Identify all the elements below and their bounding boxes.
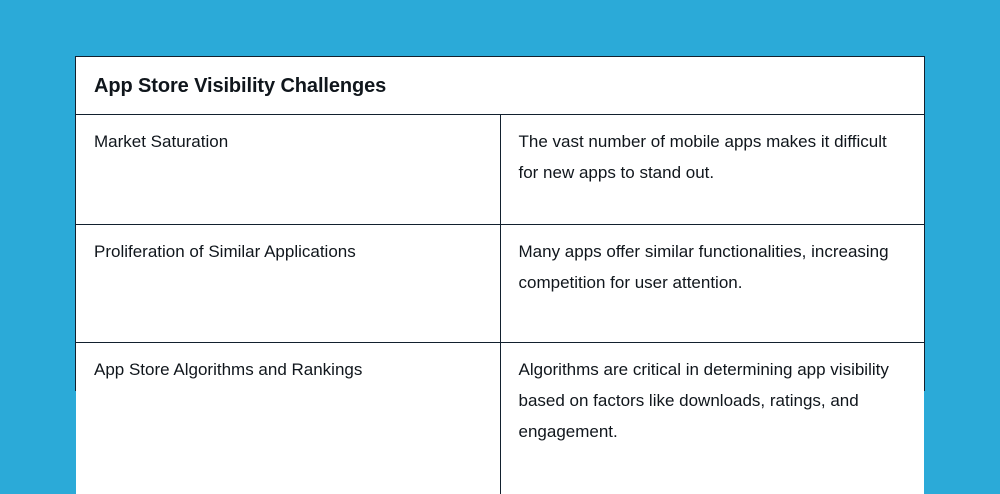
visibility-challenges-table: App Store Visibility Challenges Market S… [76, 57, 924, 494]
visibility-challenges-table-container: App Store Visibility Challenges Market S… [75, 56, 925, 391]
challenge-term: Market Saturation [76, 115, 500, 225]
table-header-row: App Store Visibility Challenges [76, 57, 924, 115]
challenge-description: Algorithms are critical in determining a… [500, 343, 924, 494]
challenge-term: App Store Algorithms and Rankings [76, 343, 500, 494]
slide-canvas: App Store Visibility Challenges Market S… [0, 0, 1000, 449]
table-row: Proliferation of Similar Applications Ma… [76, 225, 924, 343]
challenge-description: The vast number of mobile apps makes it … [500, 115, 924, 225]
table-row: Market Saturation The vast number of mob… [76, 115, 924, 225]
challenge-description: Many apps offer similar functionalities,… [500, 225, 924, 343]
table-title: App Store Visibility Challenges [76, 57, 924, 115]
table-row: App Store Algorithms and Rankings Algori… [76, 343, 924, 494]
challenge-term: Proliferation of Similar Applications [76, 225, 500, 343]
